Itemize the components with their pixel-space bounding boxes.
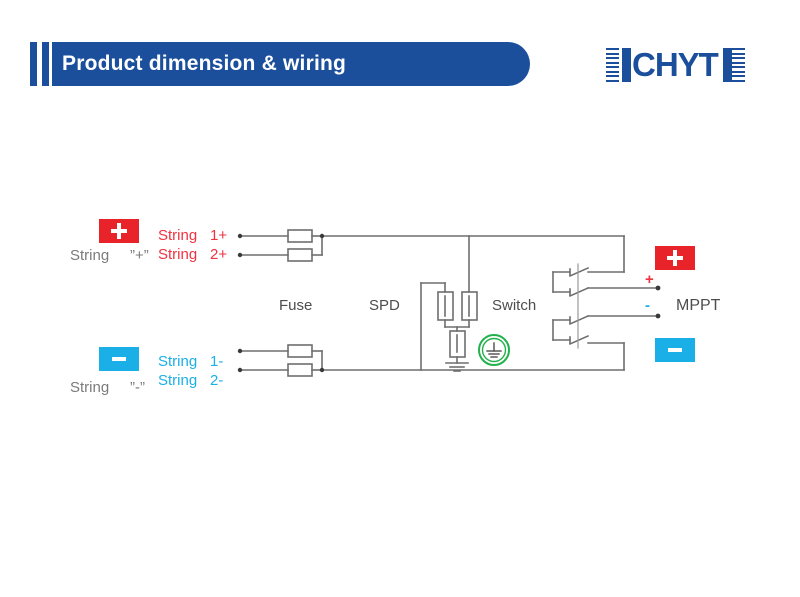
switch-blade-lower-2	[570, 336, 588, 344]
switch-blade-upper-2	[570, 288, 588, 296]
junction-dot-string2-positive	[238, 253, 242, 257]
wiring-diagram: String ”+” String ”-” String 1+ String 2…	[0, 0, 800, 597]
junction-dot-string1-positive	[238, 234, 242, 238]
fuse-symbol-string1-positive	[288, 230, 312, 242]
wiring-schematic-svg	[0, 0, 800, 597]
junction-dot-string1-negative	[238, 349, 242, 353]
protective-earth-terminal	[479, 335, 509, 365]
fuse-symbol-string2-positive	[288, 249, 312, 261]
switch-blade-lower-1	[570, 316, 588, 324]
terminal-dot-mppt-negative	[656, 314, 661, 319]
junction-dot-string2-negative	[238, 368, 242, 372]
junction-dots	[238, 234, 661, 372]
fuse-symbol-string1-negative	[288, 345, 312, 357]
switch-blade-upper-1	[570, 268, 588, 276]
junction-dot-negative-bus	[320, 368, 324, 372]
fuse-symbol-string2-negative	[288, 364, 312, 376]
junction-dot-positive-bus	[320, 234, 324, 238]
terminal-dot-mppt-positive	[656, 286, 661, 291]
